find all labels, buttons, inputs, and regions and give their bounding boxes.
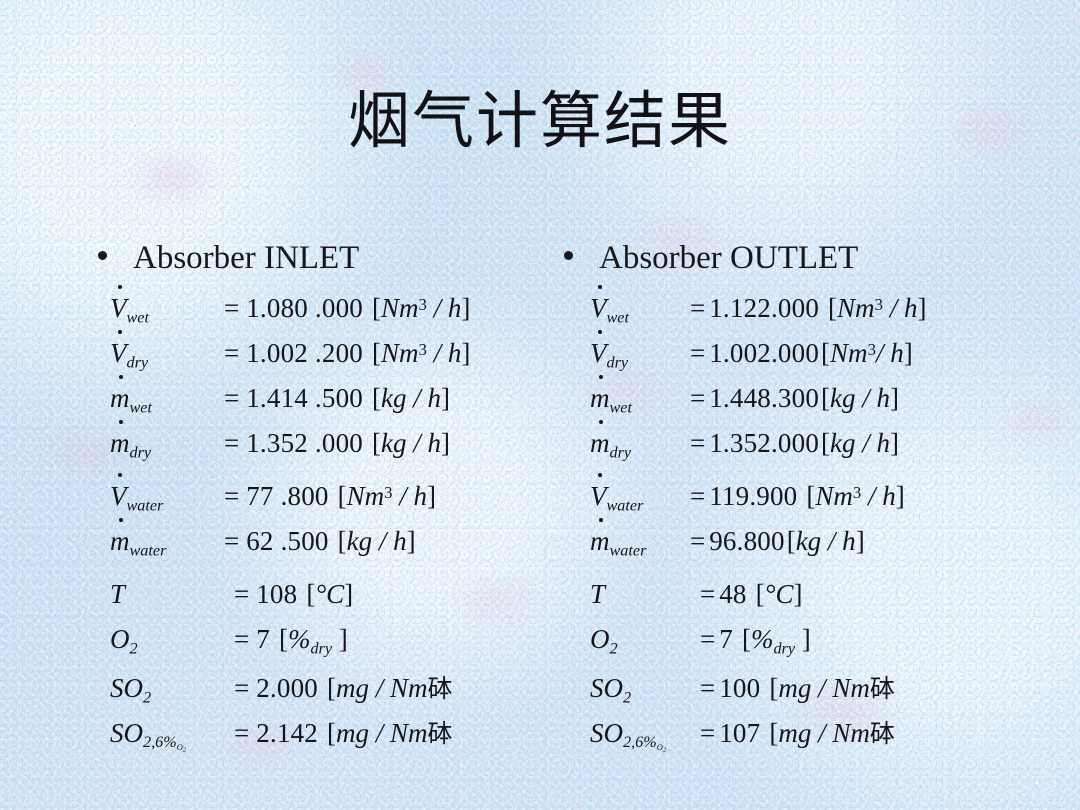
equals-sign: = <box>214 293 246 324</box>
bullet-icon <box>98 251 107 260</box>
equation-symbol: mwater <box>590 526 682 560</box>
symbol-subscript: wet <box>610 398 632 416</box>
equation-value: 108 <box>256 579 297 610</box>
equation-symbol: mwater <box>110 526 214 560</box>
equation-symbol: T <box>110 579 224 610</box>
symbol-subscript: water <box>127 496 164 514</box>
equation-row: SO2,6%O2=107[mg / Nm砵 <box>552 714 1052 759</box>
equals-sign: = <box>682 428 709 459</box>
equation-value: 1.352 .000 <box>246 428 363 459</box>
symbol-subscript: 2 <box>143 688 151 706</box>
equals-sign: = <box>224 673 256 704</box>
equation-symbol: O2 <box>590 624 692 658</box>
rate-dot-symbol: m <box>110 428 130 459</box>
symbol-subscript: 2,6%O2 <box>623 733 666 751</box>
equation-row: mwater=62 .500[kg / h] <box>86 526 556 571</box>
equals-sign: = <box>214 338 246 369</box>
equals-sign: = <box>682 338 709 369</box>
rate-dot-symbol: V <box>590 293 607 324</box>
equation-symbol: Vwet <box>590 293 682 327</box>
equation-symbol: T <box>590 579 692 610</box>
equation-list-outlet: Vwet=1.122.000[Nm3 / h]Vdry=1.002.000[Nm… <box>552 293 1052 759</box>
equals-sign: = <box>214 383 246 414</box>
equation-unit: [kg / h] <box>363 383 450 414</box>
equation-unit: [kg / h] <box>363 428 450 459</box>
equation-unit: [kg / h] <box>819 383 899 414</box>
symbol-subscript: dry <box>127 353 149 371</box>
equation-unit: [kg / h] <box>785 526 865 557</box>
rate-dot-symbol: m <box>110 526 130 557</box>
column-absorber-outlet: Absorber OUTLET Vwet=1.122.000[Nm3 / h]V… <box>552 240 1052 759</box>
quantity-symbol: T <box>110 579 125 609</box>
equation-symbol: SO2,6%O2 <box>110 718 224 754</box>
equation-row: O2=7[%dry ] <box>86 624 556 669</box>
equation-row: mdry=1.352 .000[kg / h] <box>86 428 556 473</box>
equation-value: 2.142 <box>256 718 318 749</box>
symbol-subscript: dry <box>130 443 152 461</box>
equation-row: mwet=1.414 .500[kg / h] <box>86 383 556 428</box>
equation-value: 1.080 .000 <box>246 293 363 324</box>
equation-symbol: mwet <box>590 383 682 417</box>
equation-value: 48 <box>719 579 746 610</box>
equation-unit: [kg / h] <box>819 428 899 459</box>
equation-unit: [Nm3 / h] <box>797 481 904 512</box>
equals-sign: = <box>214 428 246 459</box>
equation-unit: [mg / Nm砵 <box>318 669 452 705</box>
rate-dot-symbol: m <box>590 383 610 414</box>
equation-value: 1.414 .500 <box>246 383 363 414</box>
symbol-subscript: wet <box>130 398 152 416</box>
equation-unit: [%dry ] <box>270 624 348 658</box>
equation-row: Vwater=77 .800[Nm3 / h] <box>86 481 556 526</box>
equals-sign: = <box>682 383 709 414</box>
equation-row: Vwater=119.900[Nm3 / h] <box>552 481 1052 526</box>
equation-symbol: Vwater <box>590 481 682 515</box>
equation-value: 1.448.300 <box>709 383 819 414</box>
equation-value: 96.800 <box>709 526 784 557</box>
equation-row: mwater=96.800[kg / h] <box>552 526 1052 571</box>
rate-dot-symbol: V <box>590 338 607 369</box>
equation-unit: [mg / Nm砵 <box>760 669 894 705</box>
equation-symbol: SO2,6%O2 <box>590 718 692 754</box>
equals-sign: = <box>224 624 256 655</box>
equation-symbol: Vwet <box>110 293 214 327</box>
rate-dot-symbol: V <box>590 481 607 512</box>
column-absorber-inlet: Absorber INLET Vwet=1.080 .000[Nm3 / h]V… <box>86 240 556 759</box>
symbol-subscript: water <box>610 541 647 559</box>
equation-value: 1.002.000 <box>709 338 819 369</box>
equation-value: 1.002 .200 <box>246 338 363 369</box>
equation-row: SO2,6%O2=2.142[mg / Nm砵 <box>86 714 556 759</box>
symbol-subscript: dry <box>610 443 632 461</box>
equation-row: SO2=100[mg / Nm砵 <box>552 669 1052 714</box>
equals-sign: = <box>692 579 719 610</box>
equation-symbol: O2 <box>110 624 224 658</box>
rate-dot-symbol: m <box>590 428 610 459</box>
equation-value: 62 .500 <box>246 526 328 557</box>
equation-row: mwet=1.448.300[kg / h] <box>552 383 1052 428</box>
symbol-subscript: dry <box>607 353 629 371</box>
equation-unit: [mg / Nm砵 <box>760 714 894 750</box>
equation-unit: [mg / Nm砵 <box>318 714 452 750</box>
equation-row: Vdry=1.002 .200[Nm3 / h] <box>86 338 556 383</box>
symbol-subscript: 2 <box>130 639 138 657</box>
rate-dot-symbol: V <box>110 481 127 512</box>
equation-value: 107 <box>719 718 760 749</box>
equation-unit: [Nm3 / h] <box>819 293 926 324</box>
equation-value: 77 .800 <box>246 481 328 512</box>
equals-sign: = <box>692 673 719 704</box>
column-heading-label: Absorber OUTLET <box>599 240 858 277</box>
symbol-subscript: wet <box>607 308 629 326</box>
equals-sign: = <box>214 481 246 512</box>
rate-dot-symbol: V <box>110 293 127 324</box>
rate-dot-symbol: m <box>110 383 130 414</box>
equation-symbol: Vwater <box>110 481 214 515</box>
column-heading-label: Absorber INLET <box>133 240 359 277</box>
quantity-symbol: T <box>590 579 605 609</box>
equation-unit: [Nm3 / h] <box>363 338 470 369</box>
symbol-subscript: water <box>607 496 644 514</box>
equals-sign: = <box>214 526 246 557</box>
equation-value: 119.900 <box>709 481 797 512</box>
quantity-symbol: SO <box>590 673 623 703</box>
equation-unit: [%dry ] <box>733 624 811 658</box>
equation-symbol: Vdry <box>110 338 214 372</box>
equals-sign: = <box>692 718 719 749</box>
equals-sign: = <box>682 481 709 512</box>
equation-symbol: SO2 <box>110 673 224 707</box>
quantity-symbol: O <box>590 624 610 654</box>
equation-value: 1.122.000 <box>709 293 819 324</box>
equation-unit: [kg / h] <box>329 526 416 557</box>
equation-row: mdry=1.352.000[kg / h] <box>552 428 1052 473</box>
equation-unit: [Nm3 / h] <box>329 481 436 512</box>
slide-title: 烟气计算结果 <box>0 88 1080 153</box>
equals-sign: = <box>224 579 256 610</box>
equation-unit: [°C] <box>297 579 353 610</box>
equation-row: Vwet=1.080 .000[Nm3 / h] <box>86 293 556 338</box>
column-heading-outlet: Absorber OUTLET <box>552 240 1052 277</box>
rate-dot-symbol: V <box>110 338 127 369</box>
equation-value: 7 <box>256 624 270 655</box>
symbol-subscript: 2 <box>610 639 618 657</box>
rate-dot-symbol: m <box>590 526 610 557</box>
equation-symbol: mdry <box>110 428 214 462</box>
quantity-symbol: SO <box>110 673 143 703</box>
equation-symbol: SO2 <box>590 673 692 707</box>
equals-sign: = <box>224 718 256 749</box>
equation-row: O2=7[%dry ] <box>552 624 1052 669</box>
column-heading-inlet: Absorber INLET <box>86 240 556 277</box>
equals-sign: = <box>692 624 719 655</box>
equation-unit: [Nm3 / h] <box>363 293 470 324</box>
equation-value: 2.000 <box>256 673 318 704</box>
symbol-subsubscript: O2 <box>657 742 666 752</box>
equation-row: SO2=2.000[mg / Nm砵 <box>86 669 556 714</box>
equation-unit: [Nm3/ h] <box>819 338 913 369</box>
bullet-icon <box>564 251 573 260</box>
equation-value: 100 <box>719 673 760 704</box>
symbol-subscript: wet <box>127 308 149 326</box>
equals-sign: = <box>682 526 709 557</box>
equation-row: Vwet=1.122.000[Nm3 / h] <box>552 293 1052 338</box>
equation-symbol: Vdry <box>590 338 682 372</box>
equation-value: 1.352.000 <box>709 428 819 459</box>
quantity-symbol: SO <box>110 718 143 748</box>
equation-row: T=48[°C] <box>552 579 1052 624</box>
equation-row: Vdry=1.002.000[Nm3/ h] <box>552 338 1052 383</box>
equals-sign: = <box>682 293 709 324</box>
slide-canvas: 烟气计算结果 Absorber INLET Vwet=1.080 .000[Nm… <box>0 0 1080 810</box>
equation-row: T=108[°C] <box>86 579 556 624</box>
equation-symbol: mwet <box>110 383 214 417</box>
quantity-symbol: SO <box>590 718 623 748</box>
symbol-subscript: 2 <box>623 688 631 706</box>
equation-list-inlet: Vwet=1.080 .000[Nm3 / h]Vdry=1.002 .200[… <box>86 293 556 759</box>
equation-symbol: mdry <box>590 428 682 462</box>
equation-value: 7 <box>719 624 733 655</box>
equation-unit: [°C] <box>747 579 803 610</box>
symbol-subscript: water <box>130 541 167 559</box>
symbol-subscript: 2,6%O2 <box>143 733 186 751</box>
symbol-subsubscript: O2 <box>177 742 186 752</box>
quantity-symbol: O <box>110 624 130 654</box>
